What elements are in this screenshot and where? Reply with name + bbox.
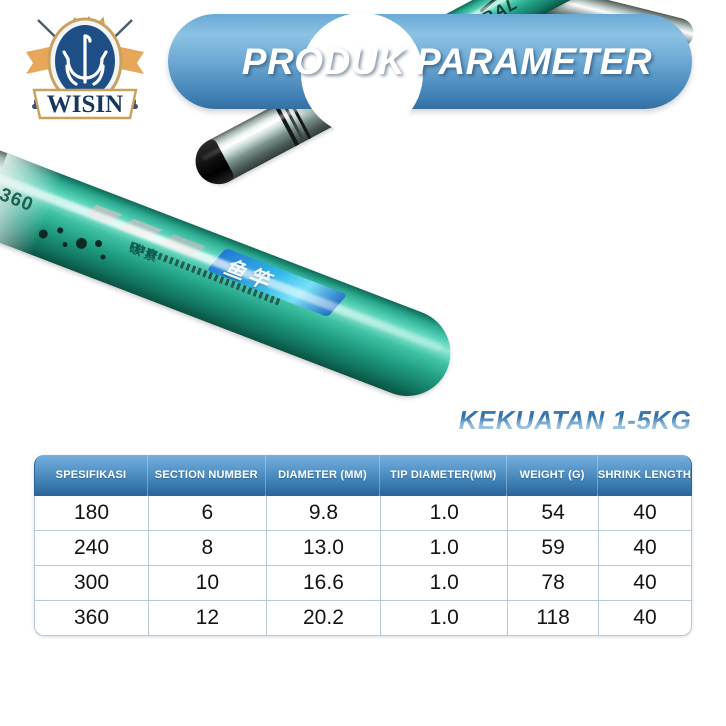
cell-spesifikasi: 360: [34, 601, 148, 636]
cell-spesifikasi: 180: [34, 496, 148, 531]
cell-weight: 59: [507, 531, 598, 566]
cell-tip-diameter: 1.0: [380, 566, 507, 601]
cell-diameter: 13.0: [266, 531, 381, 566]
product-parameter-page: 鱼竿 碳素 360 超轻 GENERAL: [0, 0, 726, 726]
table-row: 360 12 20.2 1.0 118 40: [34, 601, 692, 636]
column-header-spesifikasi: SPESIFIKASI: [34, 455, 148, 496]
header-banner: PRODUK PARAMETER: [168, 14, 692, 109]
cell-shrink: 40: [598, 531, 692, 566]
cell-section: 8: [148, 531, 266, 566]
wisin-crest-logo: WISIN: [14, 6, 156, 124]
cell-section: 12: [148, 601, 266, 636]
cell-shrink: 40: [598, 601, 692, 636]
cell-diameter: 9.8: [266, 496, 381, 531]
cell-diameter: 20.2: [266, 601, 381, 636]
cell-weight: 78: [507, 566, 598, 601]
table-row: 180 6 9.8 1.0 54 40: [34, 496, 692, 531]
cell-shrink: 40: [598, 496, 692, 531]
table-row: 240 8 13.0 1.0 59 40: [34, 531, 692, 566]
cell-spesifikasi: 240: [34, 531, 148, 566]
cell-section: 6: [148, 496, 266, 531]
table-header: SPESIFIKASI SECTION NUMBER DIAMETER (MM)…: [34, 455, 692, 496]
column-header-shrink-length: SHRINK LENGTH: [598, 455, 692, 496]
cell-weight: 118: [507, 601, 598, 636]
cell-section: 10: [148, 566, 266, 601]
column-header-section-number: SECTION NUMBER: [148, 455, 266, 496]
table-body: 180 6 9.8 1.0 54 40 240 8 13.0 1.0 59 40…: [34, 496, 692, 636]
logo-wordmark: WISIN: [47, 91, 123, 118]
column-header-diameter: DIAMETER (MM): [266, 455, 381, 496]
cell-tip-diameter: 1.0: [380, 601, 507, 636]
cell-spesifikasi: 300: [34, 566, 148, 601]
cell-shrink: 40: [598, 566, 692, 601]
cell-diameter: 16.6: [266, 566, 381, 601]
column-header-weight: WEIGHT (G): [507, 455, 598, 496]
column-header-tip-diameter: TIP DIAMETER(MM): [380, 455, 507, 496]
table-header-row: SPESIFIKASI SECTION NUMBER DIAMETER (MM)…: [34, 455, 692, 496]
table-row: 300 10 16.6 1.0 78 40: [34, 566, 692, 601]
cell-weight: 54: [507, 496, 598, 531]
cell-tip-diameter: 1.0: [380, 496, 507, 531]
logo-svg: WISIN: [14, 6, 156, 124]
cell-tip-diameter: 1.0: [380, 531, 507, 566]
page-title: PRODUK PARAMETER: [168, 14, 692, 109]
specification-table: SPESIFIKASI SECTION NUMBER DIAMETER (MM)…: [34, 455, 692, 636]
strength-label: KEKUATAN 1-5KG: [452, 405, 698, 436]
